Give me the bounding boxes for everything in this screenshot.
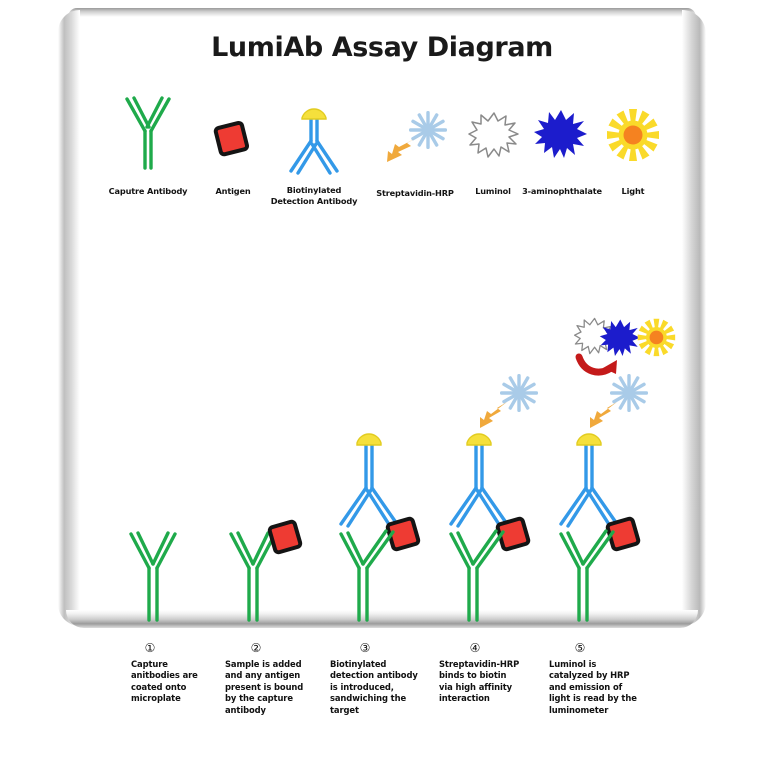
step-1-illustration bbox=[123, 528, 183, 620]
streptavidin-burst-icon bbox=[500, 374, 538, 412]
assay-diagram-figure: LumiAb Assay Diagram Caputre Antibody An… bbox=[0, 0, 764, 764]
antigen-shape bbox=[269, 521, 301, 553]
light-icon bbox=[606, 108, 660, 162]
hrp-arrow-icon bbox=[590, 402, 617, 428]
luminol-icon bbox=[467, 110, 521, 162]
legend-detection-antibody: Biotinylated Detection Antibody bbox=[281, 97, 347, 175]
panel-bevel-top bbox=[68, 8, 696, 17]
step-5-caption: Luminol is catalyzed by HRP and emission… bbox=[549, 659, 661, 716]
panel-bevel-right bbox=[682, 10, 706, 626]
step-4-number: ④ bbox=[435, 641, 515, 655]
hrp-arrow-icon bbox=[387, 137, 418, 162]
step-3-number: ③ bbox=[325, 641, 405, 655]
page-title: LumiAb Assay Diagram bbox=[0, 32, 764, 63]
legend-light: Light bbox=[606, 108, 660, 162]
step-2-caption: Sample is added and any antigen present … bbox=[225, 659, 325, 716]
legend-aminophthalate: 3-aminophthalate bbox=[533, 108, 589, 162]
biotin-shape bbox=[357, 434, 381, 445]
capture-antibody-shape bbox=[341, 531, 393, 620]
biotinylated-detection-antibody-icon bbox=[281, 97, 347, 175]
legend-luminol: Luminol bbox=[467, 110, 521, 162]
aminophthalate-icon bbox=[600, 320, 640, 356]
step-2-number: ② bbox=[216, 641, 296, 655]
step-5-number: ⑤ bbox=[540, 641, 620, 655]
step-2-illustration bbox=[223, 528, 305, 620]
step-4-caption: Streptavidin-HRP binds to biotin via hig… bbox=[439, 659, 543, 705]
biotin-shape bbox=[467, 434, 491, 445]
legend-capture-antibody: Caputre Antibody bbox=[118, 94, 178, 172]
hrp-arrow-icon bbox=[480, 402, 507, 428]
legend-label-detection-antibody-line2: Detection Antibody bbox=[271, 196, 358, 206]
light-icon bbox=[638, 319, 675, 356]
streptavidin-burst-icon bbox=[409, 111, 447, 149]
step-1-caption: Capture anitbodies are coated onto micro… bbox=[131, 659, 223, 705]
legend-streptavidin-hrp: Streptavidin-HRP bbox=[378, 110, 452, 172]
biotin-cap-icon bbox=[302, 109, 326, 119]
panel-bevel-left bbox=[58, 10, 80, 626]
step-3-illustration bbox=[333, 428, 433, 620]
reaction-arrow-icon bbox=[579, 357, 617, 374]
capture-antibody-with-antigen bbox=[223, 528, 305, 620]
capture-antibody-shape bbox=[561, 531, 613, 620]
legend-label-light: Light bbox=[592, 186, 674, 197]
legend-label-detection-antibody-line1: Biotinylated bbox=[287, 185, 341, 195]
streptavidin-burst-icon bbox=[610, 374, 648, 412]
capture-antibody-icon bbox=[118, 94, 178, 172]
step-5-illustration bbox=[553, 316, 683, 620]
capture-antibody-shape bbox=[123, 528, 183, 620]
full-luminescent-complex bbox=[553, 316, 683, 620]
antigen-icon bbox=[212, 118, 252, 160]
step-3-caption: Biotinylated detection antibody is intro… bbox=[330, 659, 436, 716]
detection-antibody-shape bbox=[561, 440, 617, 526]
aminophthalate-icon bbox=[533, 108, 589, 162]
sandwich-complex bbox=[333, 428, 433, 620]
biotin-shape bbox=[577, 434, 601, 445]
detection-antibody-shape bbox=[451, 440, 507, 526]
legend-antigen: Antigen bbox=[212, 118, 252, 160]
streptavidin-hrp-icon bbox=[378, 110, 452, 172]
detection-antibody-shape bbox=[341, 440, 397, 526]
capture-antibody-shape bbox=[451, 531, 503, 620]
step-1-number: ① bbox=[110, 641, 190, 655]
